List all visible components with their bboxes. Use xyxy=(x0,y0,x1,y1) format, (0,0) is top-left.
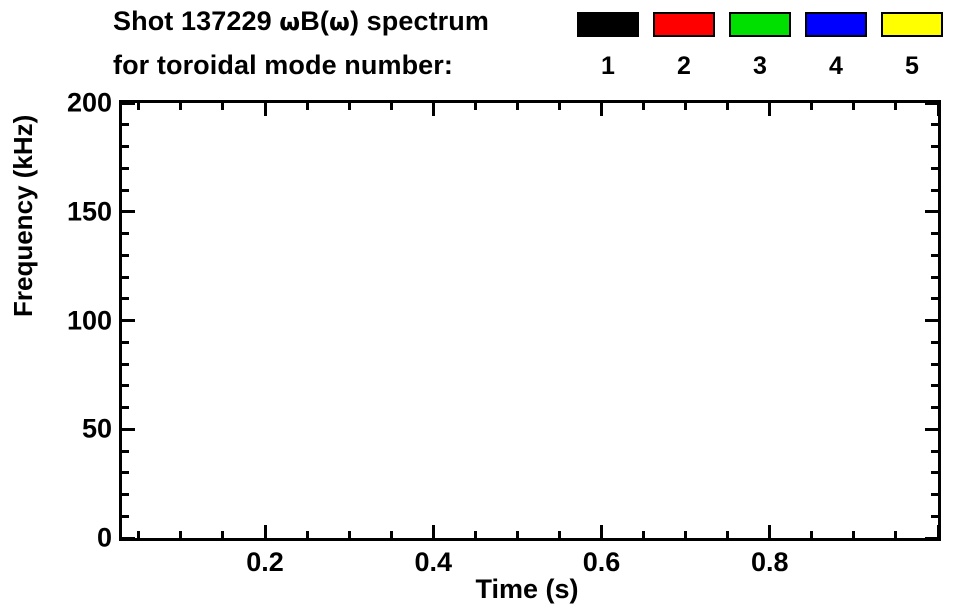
y-tick-minor xyxy=(121,232,129,235)
x-tick-minor xyxy=(306,531,309,539)
y-tick-minor xyxy=(121,515,129,518)
legend-label-3: 3 xyxy=(729,52,791,81)
x-tick-minor xyxy=(179,531,182,539)
legend-label-2: 2 xyxy=(653,52,715,81)
x-tick-top xyxy=(306,102,309,110)
x-tick-minor xyxy=(558,531,561,539)
y-tick-major xyxy=(121,210,135,213)
legend-swatch-3 xyxy=(729,12,791,37)
y-tick-major xyxy=(121,102,135,105)
y-tick-right xyxy=(931,384,939,387)
y-axis-title: Frequency (kHz) xyxy=(8,115,39,317)
x-tick-minor xyxy=(348,531,351,539)
x-tick-label: 0.8 xyxy=(751,547,789,578)
y-tick-minor xyxy=(121,254,129,257)
title-shot-text: Shot 137229 xyxy=(113,6,279,36)
figure-title-line-2: for toroidal mode number: xyxy=(113,50,453,81)
y-tick-right xyxy=(925,428,939,431)
omega-symbol-1: ω xyxy=(279,8,300,36)
legend-label-5: 5 xyxy=(881,52,943,81)
y-tick-minor xyxy=(121,167,129,170)
spectrogram-figure: Shot 137229 ωB(ω) spectrum for toroidal … xyxy=(0,0,963,615)
title-spectrum-text: ) spectrum xyxy=(350,6,489,36)
y-tick-minor xyxy=(121,123,129,126)
legend-swatch-5 xyxy=(881,12,943,37)
y-tick-label: 100 xyxy=(67,305,112,336)
y-tick-right xyxy=(931,297,939,300)
y-tick-right xyxy=(931,450,939,453)
legend-swatch-2 xyxy=(653,12,715,37)
y-tick-minor xyxy=(121,189,129,192)
x-tick-major xyxy=(600,525,603,539)
x-tick-top xyxy=(852,102,855,110)
y-tick-right xyxy=(931,471,939,474)
x-tick-top xyxy=(348,102,351,110)
y-tick-right xyxy=(931,145,939,148)
y-tick-label: 150 xyxy=(67,196,112,227)
x-tick-top xyxy=(558,102,561,110)
x-tick-label: 0.6 xyxy=(583,547,621,578)
x-tick-major xyxy=(937,525,940,539)
y-tick-major xyxy=(121,428,135,431)
x-tick-top xyxy=(894,102,897,110)
y-tick-minor xyxy=(121,145,129,148)
x-tick-major xyxy=(432,525,435,539)
x-tick-top xyxy=(600,102,603,116)
y-tick-major xyxy=(121,537,135,540)
x-tick-top xyxy=(726,102,729,110)
x-tick-minor xyxy=(852,531,855,539)
x-tick-minor xyxy=(516,531,519,539)
y-tick-minor xyxy=(121,384,129,387)
y-tick-minor xyxy=(121,297,129,300)
y-tick-minor xyxy=(121,276,129,279)
x-tick-minor xyxy=(642,531,645,539)
legend-label-1: 1 xyxy=(577,52,639,81)
y-tick-right xyxy=(931,232,939,235)
y-tick-right xyxy=(931,363,939,366)
x-axis-title: Time (s) xyxy=(475,574,578,605)
x-tick-minor xyxy=(137,531,140,539)
y-tick-minor xyxy=(121,406,129,409)
y-tick-right xyxy=(931,254,939,257)
x-tick-minor xyxy=(894,531,897,539)
y-tick-major xyxy=(121,319,135,322)
x-tick-top xyxy=(642,102,645,110)
x-tick-top xyxy=(684,102,687,110)
x-tick-top xyxy=(768,102,771,116)
x-tick-top xyxy=(221,102,224,110)
y-tick-minor xyxy=(121,341,129,344)
x-tick-top xyxy=(390,102,393,110)
x-tick-top xyxy=(474,102,477,110)
legend-label-4: 4 xyxy=(805,52,867,81)
figure-title-line-1: Shot 137229 ωB(ω) spectrum xyxy=(113,6,489,37)
omega-symbol-2: ω xyxy=(329,8,350,36)
y-tick-label: 200 xyxy=(67,88,112,119)
y-tick-right xyxy=(925,210,939,213)
x-tick-minor xyxy=(684,531,687,539)
y-tick-minor xyxy=(121,363,129,366)
x-tick-label: 0.4 xyxy=(414,547,452,578)
plot-frame: 050100150200 0.20.40.60.8 xyxy=(119,100,941,541)
y-tick-right xyxy=(931,406,939,409)
legend-swatch-1 xyxy=(577,12,639,37)
x-tick-minor xyxy=(474,531,477,539)
x-tick-label: 0.2 xyxy=(246,547,284,578)
y-tick-label: 50 xyxy=(82,414,112,445)
x-tick-major xyxy=(768,525,771,539)
x-tick-top xyxy=(137,102,140,110)
y-tick-label: 0 xyxy=(97,523,112,554)
y-tick-right xyxy=(925,319,939,322)
y-tick-right xyxy=(931,276,939,279)
y-tick-right xyxy=(931,167,939,170)
x-tick-top xyxy=(937,102,940,116)
y-tick-minor xyxy=(121,450,129,453)
title-b-text: B( xyxy=(300,6,329,36)
x-tick-top xyxy=(264,102,267,116)
x-tick-top xyxy=(810,102,813,110)
x-tick-top xyxy=(516,102,519,110)
x-tick-minor xyxy=(726,531,729,539)
y-tick-minor xyxy=(121,471,129,474)
x-tick-top xyxy=(432,102,435,116)
x-tick-minor xyxy=(390,531,393,539)
y-tick-right xyxy=(931,515,939,518)
legend-swatches xyxy=(577,12,957,38)
x-tick-minor xyxy=(221,531,224,539)
y-tick-right xyxy=(931,189,939,192)
x-tick-major xyxy=(264,525,267,539)
legend-labels: 12345 xyxy=(577,52,957,82)
x-tick-top xyxy=(179,102,182,110)
y-tick-minor xyxy=(121,493,129,496)
legend-swatch-4 xyxy=(805,12,867,37)
y-tick-right xyxy=(931,341,939,344)
x-tick-minor xyxy=(810,531,813,539)
y-tick-right xyxy=(931,493,939,496)
y-tick-right xyxy=(931,123,939,126)
